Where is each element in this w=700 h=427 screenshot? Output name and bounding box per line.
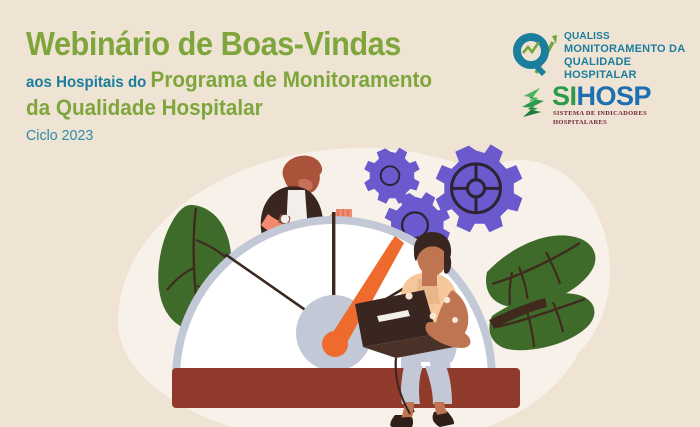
headline-block: Webinário de Boas-Vindas aos Hospitais d… (26, 27, 476, 144)
headline-line-2-small: aos Hospitais do (26, 74, 146, 91)
headline-line-2-big: Programa de Monitoramento (151, 67, 433, 92)
sihosp-word-si: SI (552, 81, 577, 111)
magnifying-glass-growth-arrow-icon (512, 32, 560, 78)
sihosp-subtitle-line-1: SISTEMA DE INDICADORES (553, 110, 647, 119)
qualiss-text-line-2: MONITORAMENTO DA (564, 43, 692, 56)
sihosp-logo-wordmark: SIHOSP (552, 83, 651, 110)
qualiss-text-line-1: QUALISS (564, 31, 692, 43)
qualiss-text-line-3: QUALIDADE HOSPITALAR (564, 56, 692, 82)
webinar-banner: Webinário de Boas-Vindas aos Hospitais d… (0, 0, 700, 427)
zigzag-s-emblem-icon (518, 86, 548, 122)
sihosp-logo: SIHOSP SISTEMA DE INDICADORES HOSPITALAR… (518, 86, 693, 128)
gauge-base-bar (172, 368, 520, 408)
headline-line-2: aos Hospitais do Programa de Monitoramen… (26, 68, 449, 93)
headline-cycle: Ciclo 2023 (26, 127, 454, 144)
sihosp-word-hosp: HOSP (577, 81, 652, 111)
sihosp-subtitle: SISTEMA DE INDICADORES HOSPITALARES (553, 110, 647, 128)
qualiss-logo-text: QUALISS MONITORAMENTO DA QUALIDADE HOSPI… (564, 31, 692, 82)
headline-line-1: Webinário de Boas-Vindas (26, 27, 445, 62)
gear-large-right-icon (436, 144, 523, 232)
sihosp-subtitle-line-2: HOSPITALARES (553, 119, 647, 128)
headline-line-3: da Qualidade Hospitalar (26, 95, 449, 121)
qualiss-logo: QUALISS MONITORAMENTO DA QUALIDADE HOSPI… (512, 30, 692, 80)
